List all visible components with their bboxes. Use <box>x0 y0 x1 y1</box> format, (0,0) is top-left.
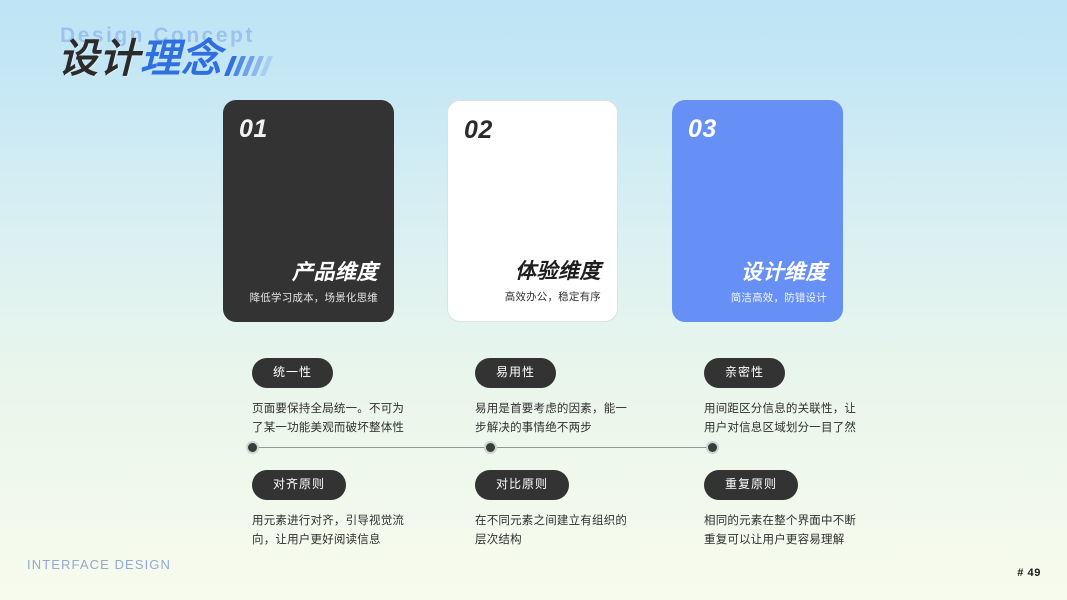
principle-top-1: 统一性 页面要保持全局统一。不可为了某一功能美观而破坏整体性 <box>252 358 437 438</box>
footer-label: INTERFACE DESIGN <box>27 557 171 572</box>
page-number: # 49 <box>1017 567 1041 579</box>
principle-text: 相同的元素在整个界面中不断重复可以让用户更容易理解 <box>704 512 864 550</box>
principle-text: 用元素进行对齐，引导视觉流向，让用户更好阅读信息 <box>252 512 412 550</box>
principle-bottom-2: 对比原则 在不同元素之间建立有组织的层次结构 <box>475 470 660 550</box>
principle-bottom-1: 对齐原则 用元素进行对齐，引导视觉流向，让用户更好阅读信息 <box>252 470 437 550</box>
principle-badge[interactable]: 重复原则 <box>704 470 798 500</box>
principle-badge[interactable]: 统一性 <box>252 358 333 388</box>
principle-text: 易用是首要考虑的因素，能一步解决的事情绝不两步 <box>475 400 635 438</box>
principle-badge[interactable]: 对齐原则 <box>252 470 346 500</box>
principles-timeline: 统一性 页面要保持全局统一。不可为了某一功能美观而破坏整体性 易用性 易用是首要… <box>0 0 1067 600</box>
timeline-dot-1 <box>246 441 259 454</box>
principle-badge[interactable]: 易用性 <box>475 358 556 388</box>
principle-text: 在不同元素之间建立有组织的层次结构 <box>475 512 635 550</box>
slide-canvas: Design Concept 设计 理念 01 产品维度 降低学习成本，场景化思… <box>0 0 1067 600</box>
principle-top-2: 易用性 易用是首要考虑的因素，能一步解决的事情绝不两步 <box>475 358 660 438</box>
principle-badge[interactable]: 对比原则 <box>475 470 569 500</box>
principle-top-3: 亲密性 用间距区分信息的关联性，让用户对信息区域划分一目了然 <box>704 358 889 438</box>
timeline-dot-2 <box>484 441 497 454</box>
timeline-axis <box>252 447 714 448</box>
principle-badge[interactable]: 亲密性 <box>704 358 785 388</box>
principle-text: 页面要保持全局统一。不可为了某一功能美观而破坏整体性 <box>252 400 412 438</box>
timeline-dot-3 <box>706 441 719 454</box>
principle-bottom-3: 重复原则 相同的元素在整个界面中不断重复可以让用户更容易理解 <box>704 470 889 550</box>
principle-text: 用间距区分信息的关联性，让用户对信息区域划分一目了然 <box>704 400 864 438</box>
